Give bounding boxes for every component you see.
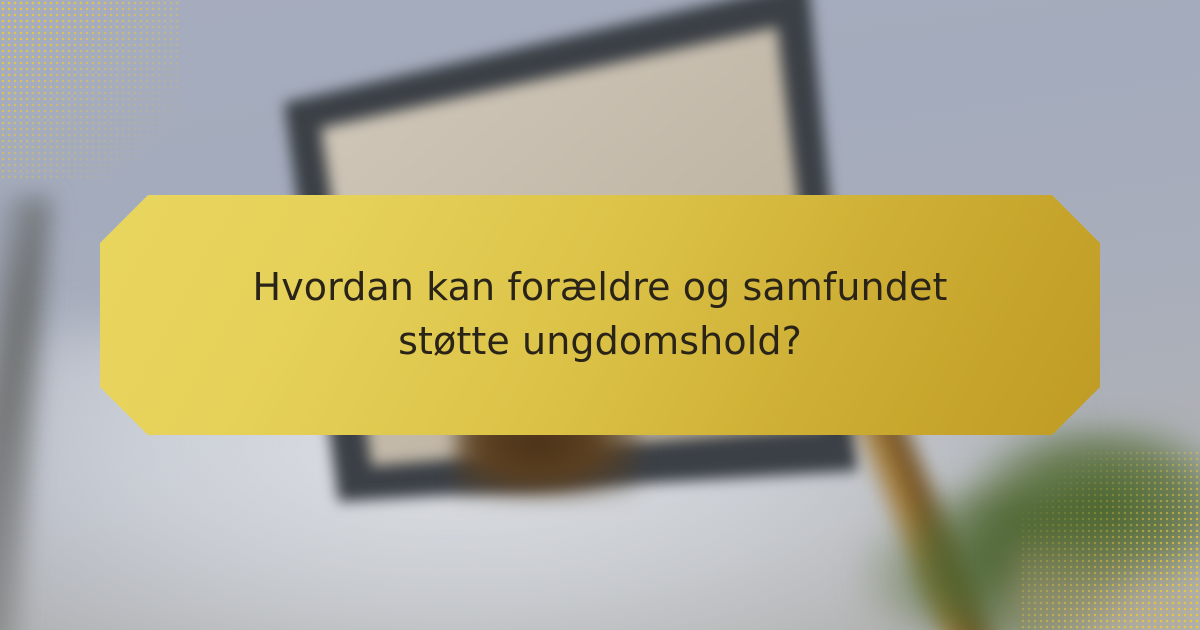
ground-sand <box>1010 540 1200 630</box>
page-title: Hvordan kan forældre og samfundet støtte… <box>220 261 980 369</box>
headline-banner: Hvordan kan forældre og samfundet støtte… <box>100 195 1100 435</box>
share-card: Hvordan kan forældre og samfundet støtte… <box>0 0 1200 630</box>
